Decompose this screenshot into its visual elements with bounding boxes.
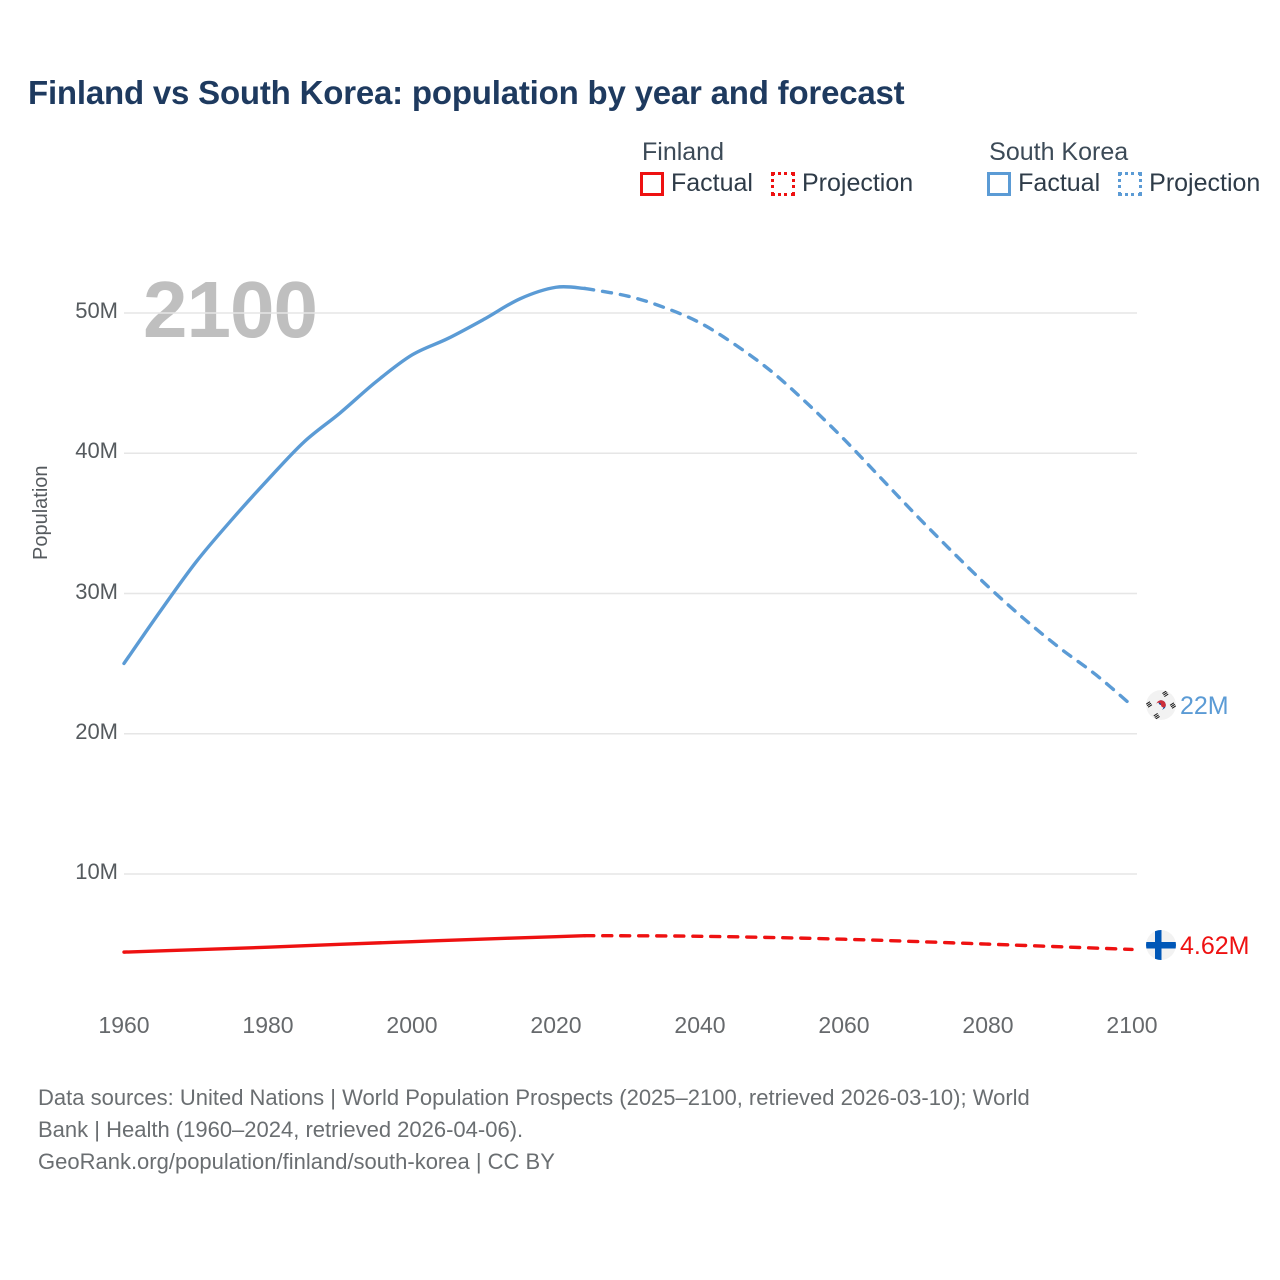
- footer-line-1: Data sources: United Nations | World Pop…: [38, 1082, 1238, 1114]
- plot-area: 2100 10M20M30M40M50M 1960198020002020204…: [0, 0, 1280, 1060]
- plot-canvas: [0, 0, 1280, 1060]
- y-axis-title: Population: [30, 465, 53, 560]
- series-lines: [124, 287, 1132, 952]
- endpoint-label-south-korea: 22M: [1180, 692, 1229, 721]
- footer-line-2: Bank | Health (1960–2024, retrieved 2026…: [38, 1114, 1238, 1146]
- y-tick-label: 40M: [75, 438, 118, 464]
- gridlines: [124, 313, 1137, 874]
- footer-line-3: GeoRank.org/population/finland/south-kor…: [38, 1146, 1238, 1178]
- footer-sources: Data sources: United Nations | World Pop…: [38, 1082, 1238, 1178]
- x-tick-label: 1960: [98, 1012, 149, 1039]
- x-tick-label: 2080: [962, 1012, 1013, 1039]
- series-line-south-korea-projection: [585, 288, 1132, 705]
- x-tick-label: 1980: [242, 1012, 293, 1039]
- x-tick-label: 2020: [530, 1012, 581, 1039]
- fi-flag-icon: [1146, 930, 1176, 960]
- chart-figure: Finland vs South Korea: population by ye…: [0, 0, 1280, 1280]
- x-tick-label: 2000: [386, 1012, 437, 1039]
- x-tick-label: 2040: [674, 1012, 725, 1039]
- x-tick-label: 2100: [1106, 1012, 1157, 1039]
- series-line-finland-projection: [585, 936, 1132, 950]
- y-tick-label: 20M: [75, 719, 118, 745]
- y-tick-label: 50M: [75, 298, 118, 324]
- endpoint-label-finland: 4.62M: [1180, 932, 1249, 961]
- series-line-finland-factual: [124, 936, 585, 952]
- series-line-south-korea-factual: [124, 287, 585, 664]
- kr-flag-icon: [1146, 690, 1176, 720]
- y-tick-label: 30M: [75, 579, 118, 605]
- x-tick-label: 2060: [818, 1012, 869, 1039]
- y-tick-label: 10M: [75, 859, 118, 885]
